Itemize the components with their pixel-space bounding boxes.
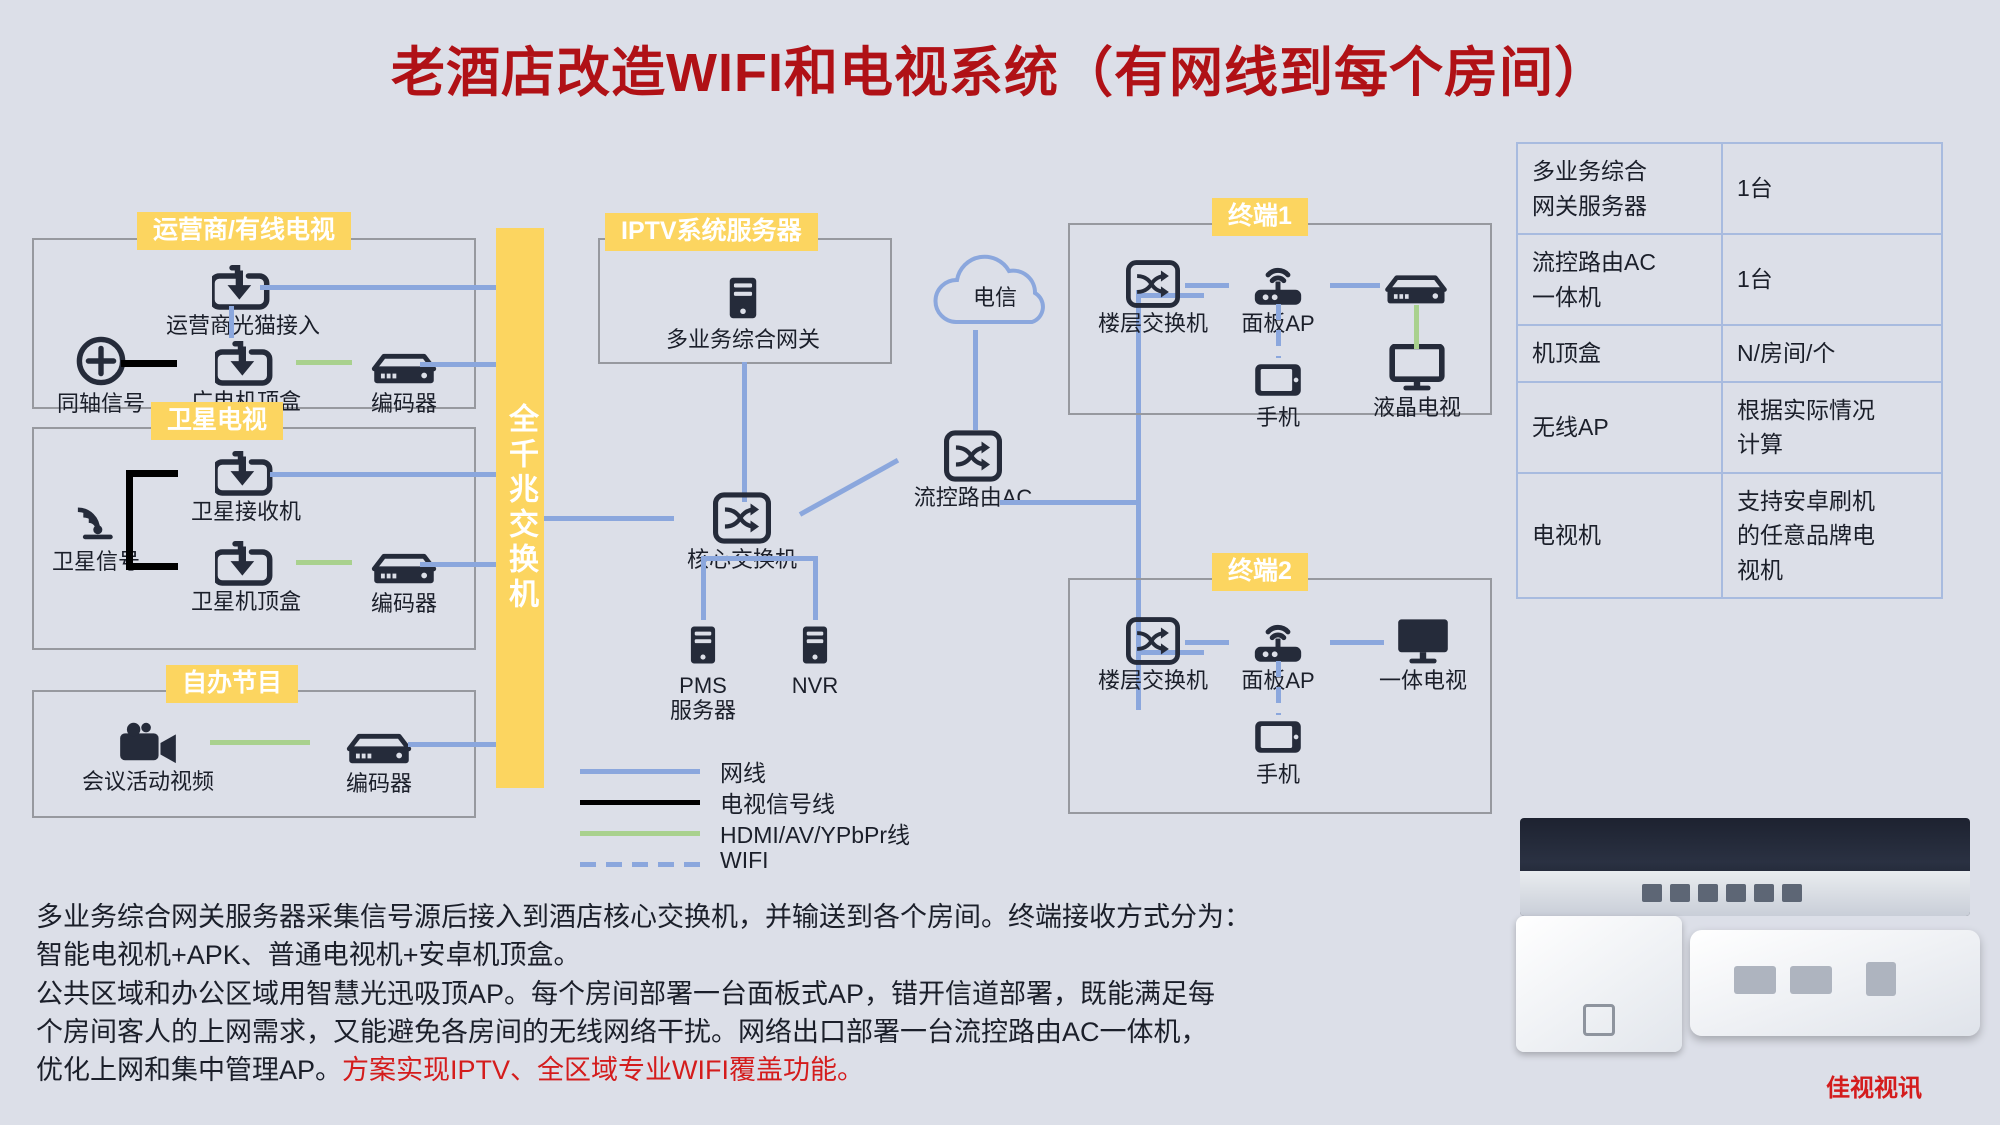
connector-ap1-to-stb1 [1330, 283, 1380, 288]
lcd-tv-icon [1388, 344, 1446, 392]
photo-gateway-server [1520, 818, 1970, 916]
connector-backbone-to-core [544, 516, 674, 521]
server-port [1698, 884, 1718, 902]
switch-icon [1126, 260, 1180, 308]
switch-icon [713, 492, 771, 544]
server-port [1642, 884, 1662, 902]
switch-icon [1126, 617, 1180, 665]
ap-faceplate-port [1583, 1004, 1615, 1036]
footer-line: 多业务综合网关服务器采集信号源后接入到酒店核心交换机，并输送到各个房间。终端接收… [36, 898, 1566, 936]
spec-item: 电视机 [1517, 473, 1722, 599]
spec-item: 机顶盒 [1517, 325, 1722, 382]
legend-item: 网线 [580, 756, 980, 787]
smartphone-icon [1249, 715, 1307, 759]
node-label: 编码器 [343, 391, 465, 416]
node-operator-onu[interactable]: 运营商光猫接入 [163, 262, 323, 338]
legend-swatch-wifi [580, 862, 700, 867]
footer-line-black: 优化上网和集中管理AP。 [36, 1055, 342, 1085]
footer-line: 智能电视机+APK、普通电视机+安卓机顶盒。 [36, 936, 1566, 974]
photo-ceiling-ap [1690, 930, 1980, 1036]
spec-item: 多业务综合 网关服务器 [1517, 143, 1722, 234]
node-pms-server[interactable]: PMS 服务器 [648, 620, 758, 724]
group-terminal1-header: 终端1 [1212, 198, 1308, 236]
table-row: 无线AP 根据实际情况 计算 [1517, 382, 1942, 473]
table-row: 多业务综合 网关服务器 1台 [1517, 143, 1942, 234]
backbone-label: 全千兆交换机 [505, 403, 535, 613]
legend-label: HDMI/AV/YPbPr线 [720, 816, 910, 850]
node-label: 卫星信号 [32, 549, 160, 574]
ap-port [1790, 966, 1832, 994]
spec-item-line: 多业务综合 [1532, 154, 1707, 189]
node-label: 会议活动视频 [58, 769, 238, 794]
node-conference-video[interactable]: 会议活动视频 [58, 718, 238, 794]
node-satellite-signal[interactable]: 卫星信号 [32, 488, 160, 574]
coax-signal-icon [74, 334, 128, 388]
connector-core-to-nvr [813, 556, 818, 620]
cloud-label: 电信 [920, 252, 1070, 340]
node-smartphone-2[interactable]: 手机 [1230, 715, 1326, 787]
connector-stb1-to-tv1 [1414, 305, 1419, 349]
encoder-icon [344, 720, 414, 768]
connector-encoder1-to-backbone [420, 362, 502, 367]
node-label: 卫星机顶盒 [166, 589, 326, 614]
node-encoder-1[interactable]: 编码器 [343, 340, 465, 416]
diagram-canvas: 老酒店改造WIFI和电视系统（有网线到每个房间） [0, 0, 2000, 1125]
spec-qty-line: 的任意品牌电 [1737, 518, 1927, 553]
node-label: 手机 [1230, 405, 1326, 430]
page-title: 老酒店改造WIFI和电视系统（有网线到每个房间） [0, 28, 2000, 107]
group-terminal2-header: 终端2 [1212, 553, 1308, 591]
spec-item-line: 一体机 [1532, 280, 1707, 315]
server-icon [682, 620, 724, 670]
ap-port [1734, 966, 1776, 994]
connector-wifi-ap2-phone2 [1276, 661, 1281, 715]
node-satellite-stb[interactable]: 卫星机顶盒 [166, 538, 326, 614]
node-label-line1: PMS [648, 673, 758, 698]
node-label: 流控路由AC [880, 485, 1066, 510]
connector-core-to-pms [701, 556, 706, 620]
legend-item: WIFI [580, 849, 980, 880]
node-lcd-tv-1[interactable]: 液晶电视 [1358, 344, 1476, 420]
server-port [1754, 884, 1774, 902]
backbone-gigabit-switch[interactable]: 全千兆交换机 [496, 228, 544, 788]
connector-cloud-to-ac [973, 330, 978, 430]
spec-item: 无线AP [1517, 382, 1722, 473]
group-selfmade-header: 自办节目 [166, 665, 298, 703]
set-top-box-icon [215, 448, 277, 496]
connector-gateway-to-core [742, 362, 747, 502]
node-coax-signal[interactable]: 同轴信号 [33, 334, 169, 416]
legend-swatch-ethernet [580, 769, 700, 774]
wireless-ap-icon [1249, 260, 1307, 308]
node-label: NVR [760, 673, 870, 698]
connector-ac-to-terminals [1000, 500, 1140, 505]
spec-qty-line: 计算 [1737, 427, 1927, 462]
node-label: 运营商光猫接入 [163, 313, 323, 338]
spec-item-line: 网关服务器 [1532, 189, 1707, 224]
smartphone-icon [1249, 358, 1307, 402]
node-label: 液晶电视 [1358, 395, 1476, 420]
table-row: 机顶盒 N/房间/个 [1517, 325, 1942, 382]
server-icon [720, 272, 766, 324]
ap-port [1866, 962, 1896, 996]
node-label: 编码器 [343, 591, 465, 616]
server-port [1670, 884, 1690, 902]
connector-pms-nvr-bus [701, 556, 815, 561]
node-nvr[interactable]: NVR [760, 620, 870, 698]
connector-encoder3-to-backbone [408, 742, 502, 747]
connector-stb-to-encoder [296, 360, 352, 365]
connector-wifi-ap1-phone1 [1276, 304, 1281, 358]
legend-swatch-tv-signal [580, 800, 700, 805]
server-port [1782, 884, 1802, 902]
table-row: 电视机 支持安卓刷机 的任意品牌电 视机 [1517, 473, 1942, 599]
spec-item: 流控路由AC 一体机 [1517, 234, 1722, 325]
connector-sw2-to-ap2 [1185, 640, 1229, 645]
connector-ap2-to-tv2 [1330, 640, 1384, 645]
footer-line: 个房间客人的上网需求，又能避免各房间的无线网络干扰。网络出口部署一台流控路由AC… [36, 1013, 1566, 1051]
table-row: 流控路由AC 一体机 1台 [1517, 234, 1942, 325]
spec-qty: 1台 [1722, 234, 1942, 325]
switch-icon [944, 430, 1002, 482]
legend-item: HDMI/AV/YPbPr线 [580, 818, 980, 849]
connector-sat-bracket-v [126, 470, 133, 570]
node-encoder-3[interactable]: 编码器 [318, 720, 440, 796]
node-label-line2: 服务器 [648, 698, 758, 723]
all-in-one-tv-icon [1394, 617, 1452, 665]
node-ac-router[interactable]: 流控路由AC [880, 430, 1066, 510]
connector-satstb-to-encoder [296, 560, 352, 565]
node-label: 楼层交换机 [1080, 311, 1226, 336]
spec-qty: 1台 [1722, 143, 1942, 234]
group-satellite-header: 卫星电视 [151, 402, 283, 440]
legend-item: 电视信号线 [580, 787, 980, 818]
connector-sat-bracket-bottom [126, 563, 178, 570]
node-label: 卫星接收机 [166, 499, 326, 524]
node-floor-switch-2[interactable]: 楼层交换机 [1080, 617, 1226, 693]
footer-description: 多业务综合网关服务器采集信号源后接入到酒店核心交换机，并输送到各个房间。终端接收… [36, 898, 1566, 1090]
node-all-in-one-tv[interactable]: 一体电视 [1362, 617, 1484, 693]
wireless-ap-icon [1249, 617, 1307, 665]
connector-coax-to-stb [121, 360, 177, 367]
node-label: 编码器 [318, 771, 440, 796]
group-operator-header: 运营商/有线电视 [137, 212, 351, 250]
spec-qty-line: 根据实际情况 [1737, 393, 1927, 428]
node-label: 手机 [1230, 762, 1326, 787]
connector-onu-to-backbone [260, 285, 502, 290]
set-top-box-icon [1383, 262, 1449, 308]
set-top-box-icon [215, 338, 277, 386]
node-label: 一体电视 [1362, 668, 1484, 693]
spec-qty-line: 视机 [1737, 553, 1927, 588]
spec-qty: N/房间/个 [1722, 325, 1942, 382]
server-port [1726, 884, 1746, 902]
spec-item-line: 流控路由AC [1532, 245, 1707, 280]
legend-label: 电视信号线 [720, 785, 835, 819]
spec-qty-line: 支持安卓刷机 [1737, 484, 1927, 519]
node-label: 楼层交换机 [1080, 668, 1226, 693]
legend-swatch-hdmi [580, 831, 700, 836]
group-iptv-header: IPTV系统服务器 [605, 213, 818, 251]
spec-qty: 支持安卓刷机 的任意品牌电 视机 [1722, 473, 1942, 599]
node-floor-switch-1[interactable]: 楼层交换机 [1080, 260, 1226, 336]
connector-encoder2-to-backbone [420, 562, 502, 567]
footer-line: 公共区域和办公区域用智慧光迅吸顶AP。每个房间部署一台面板式AP，错开信道部署，… [36, 975, 1566, 1013]
node-multiservice-gateway[interactable]: 多业务综合网关 [638, 272, 848, 352]
server-icon [794, 620, 836, 670]
legend-label: 网线 [720, 754, 766, 788]
satellite-dish-icon [67, 488, 125, 546]
legend-label: WIFI [720, 847, 769, 874]
set-top-box-icon [215, 538, 277, 586]
spec-table: 多业务综合 网关服务器 1台 流控路由AC 一体机 1台 机顶盒 N/房间/个 … [1516, 142, 1943, 599]
cloud-telecom: 电信 [920, 252, 1070, 340]
connector-onu-to-stb [229, 306, 234, 338]
spec-qty: 根据实际情况 计算 [1722, 382, 1942, 473]
connector-sat-bracket-top [126, 470, 178, 477]
node-satellite-receiver[interactable]: 卫星接收机 [166, 448, 326, 524]
node-smartphone-1[interactable]: 手机 [1230, 358, 1326, 430]
node-encoder-2[interactable]: 编码器 [343, 540, 465, 616]
connector-satrx-to-backbone [270, 472, 502, 477]
legend: 网线 电视信号线 HDMI/AV/YPbPr线 WIFI [580, 756, 980, 880]
node-label: 同轴信号 [33, 391, 169, 416]
camcorder-icon [116, 718, 180, 766]
footer-line-mixed: 优化上网和集中管理AP。方案实现IPTV、全区域专业WIFI覆盖功能。 [36, 1051, 1566, 1089]
connector-sw1-to-ap1 [1185, 283, 1229, 288]
footer-line-red: 方案实现IPTV、全区域专业WIFI覆盖功能。 [342, 1055, 864, 1085]
node-label: 多业务综合网关 [638, 327, 848, 352]
connector-cam-to-encoder [210, 740, 310, 745]
brand-watermark: 佳视视讯 [1826, 1068, 1922, 1103]
